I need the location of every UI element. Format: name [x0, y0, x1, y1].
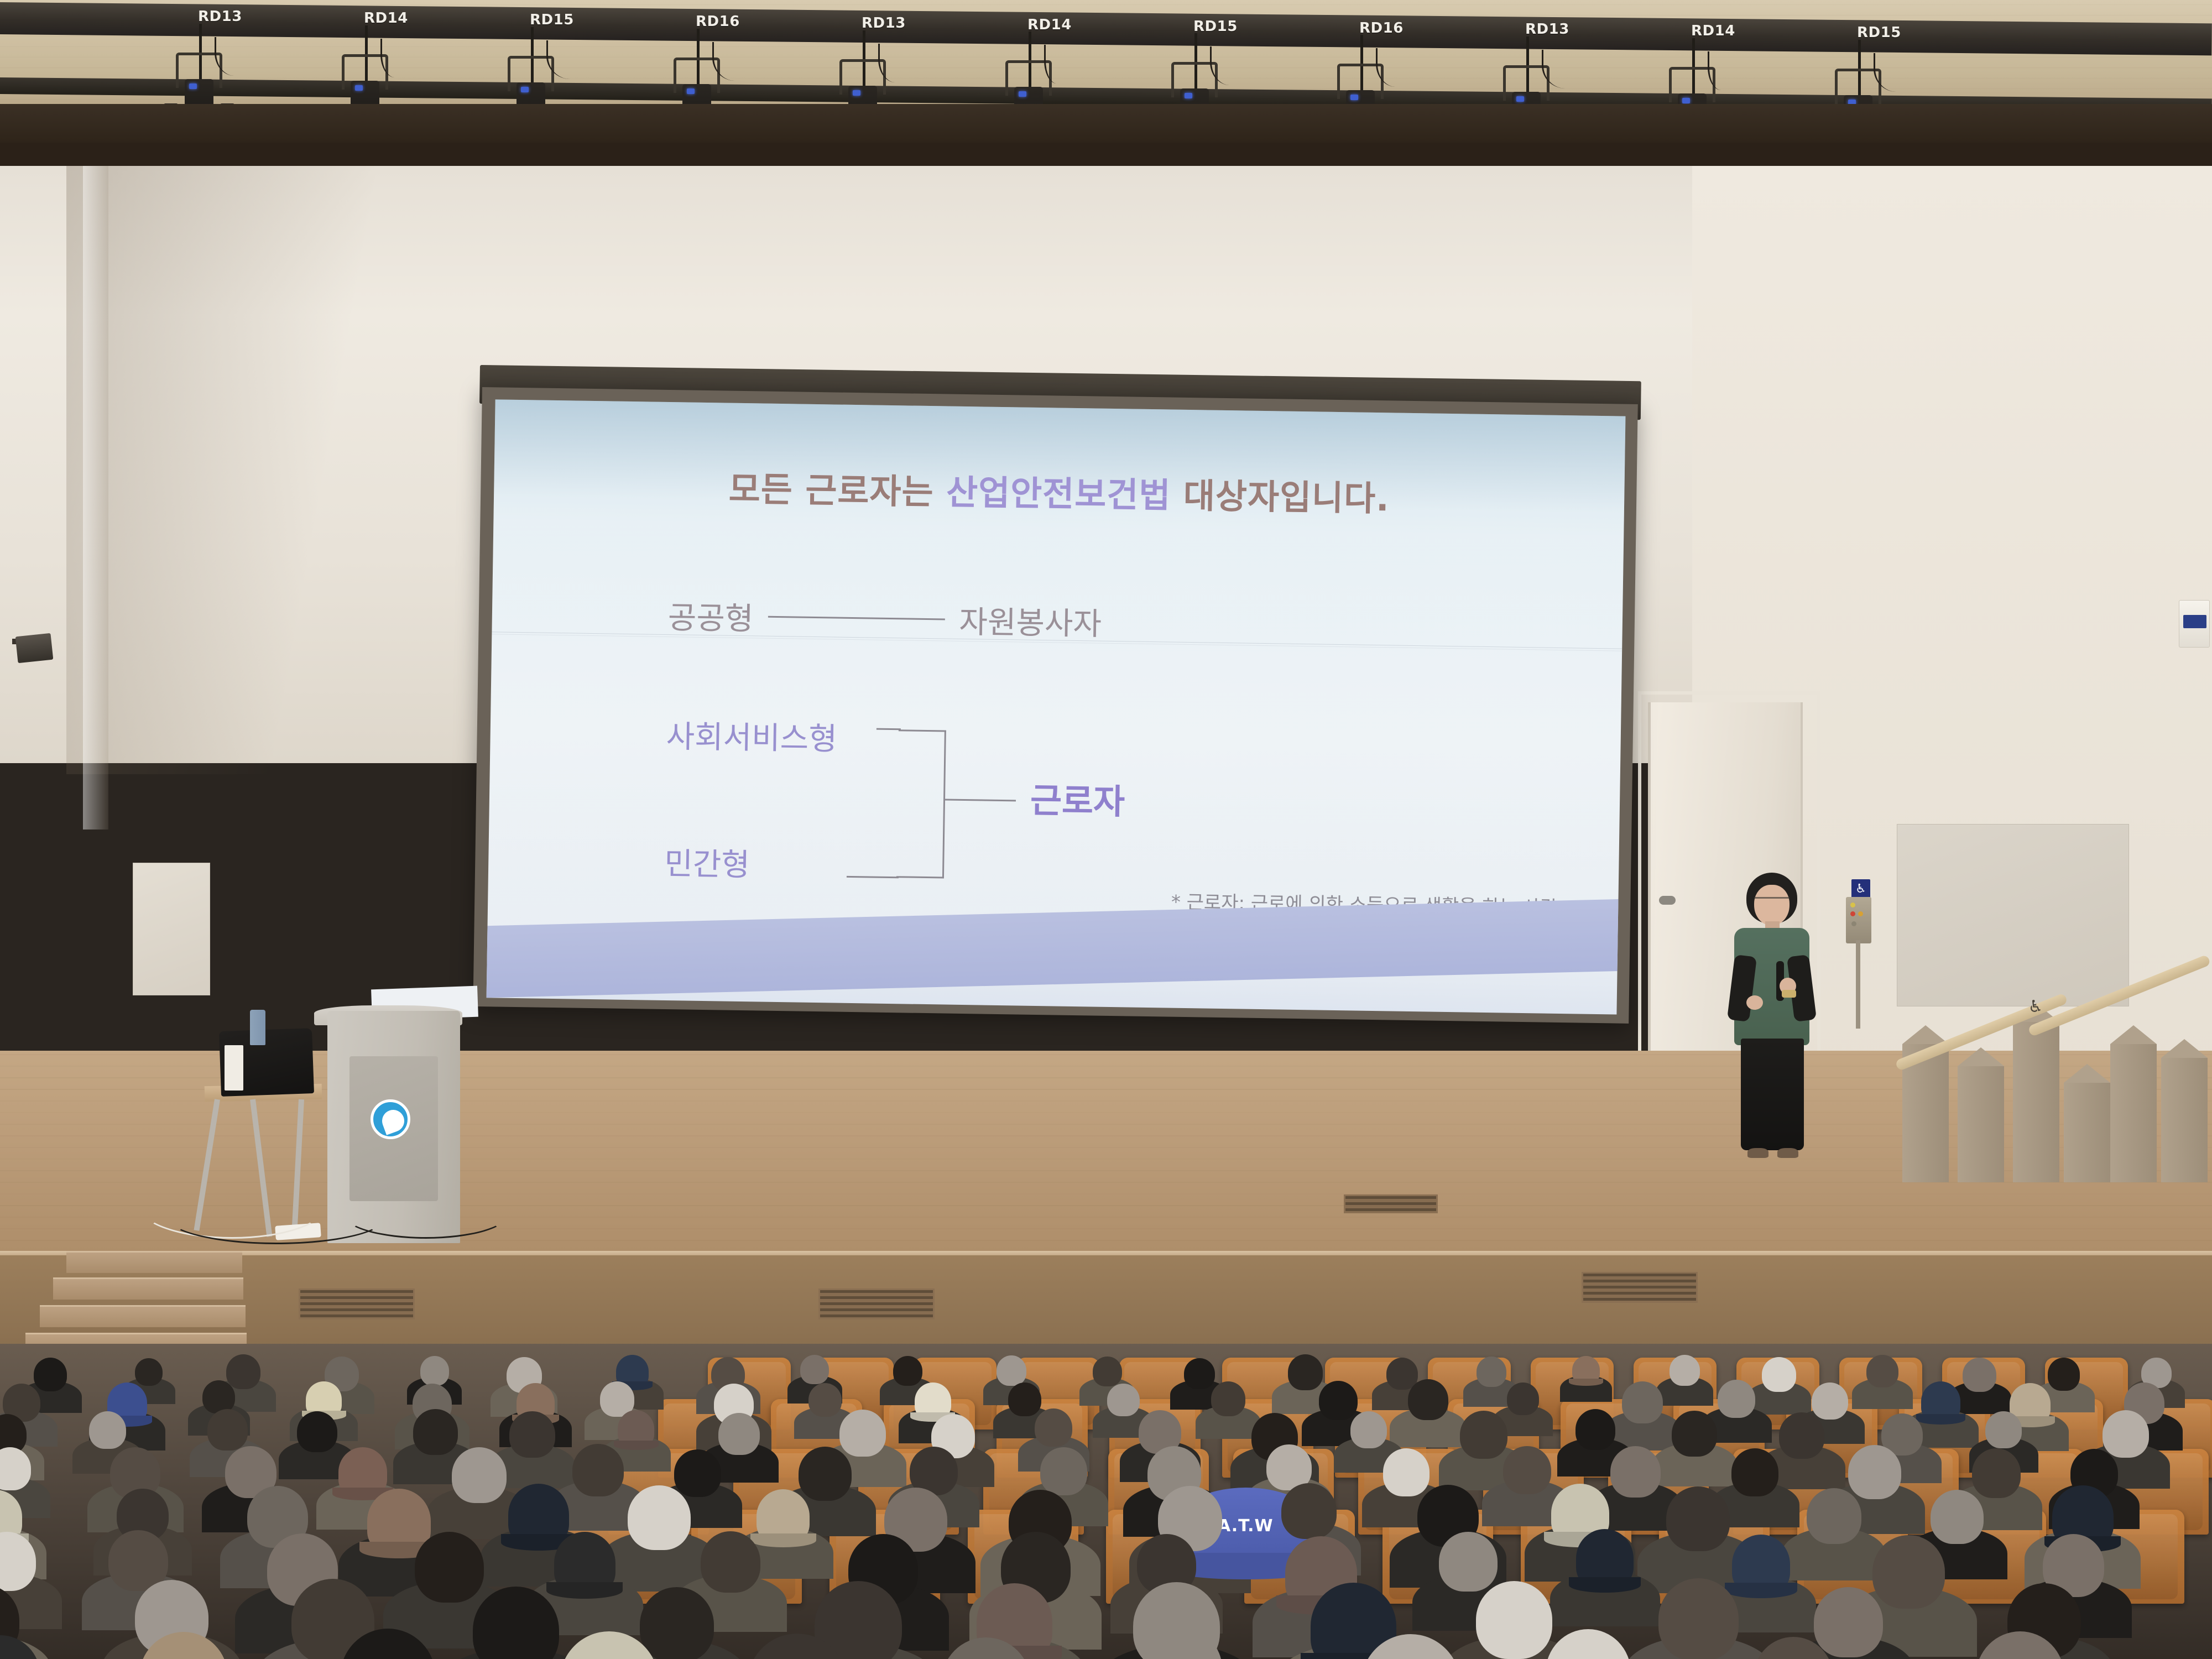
- stage-control-panel[interactable]: [1846, 897, 1871, 943]
- slide-label-worker: 근로자: [1030, 773, 1125, 824]
- door-handle-icon[interactable]: [1659, 896, 1676, 905]
- audience-member-cap: [1732, 1535, 1790, 1594]
- audience-member-head: [1779, 1412, 1825, 1459]
- audience-member-head: [207, 1409, 248, 1450]
- audience-member-head: [226, 1354, 260, 1389]
- audience-member-head: [1319, 1381, 1358, 1420]
- presenter-hand-left: [1746, 995, 1763, 1010]
- audience-member-head: [1670, 1355, 1699, 1386]
- audience-member-head: [2048, 1358, 2080, 1391]
- sanitizer-label: [2183, 615, 2206, 628]
- audience-member-head: [718, 1413, 760, 1455]
- audience-member-head: [1281, 1483, 1337, 1540]
- glasses-icon: [1754, 897, 1790, 904]
- slide-row-public: 공공형 자원봉사자: [667, 593, 1102, 644]
- truss-label-rd14-5: RD14: [1027, 17, 1072, 33]
- audience-member-head: [1872, 1535, 1944, 1609]
- audience-member-head: [1288, 1354, 1323, 1390]
- audience-member-cap: [508, 1484, 569, 1546]
- truss-label-rd14-1: RD14: [364, 10, 408, 27]
- cap-brim: [1916, 1414, 1965, 1425]
- stage-vent: [1582, 1272, 1698, 1303]
- stage-step-5[interactable]: [53, 1277, 243, 1300]
- accessible-sign-icon: ♿: [1851, 879, 1870, 899]
- fixture-led-indicator: [1185, 93, 1192, 98]
- cap-brim: [750, 1533, 816, 1547]
- audience-member-head: [1211, 1381, 1245, 1416]
- presenter-shoe-left: [1747, 1148, 1768, 1158]
- audience-member-head: [1731, 1448, 1778, 1496]
- audience-member-head: [415, 1532, 484, 1603]
- wristwatch-icon: [1782, 990, 1796, 998]
- cap-brim: [1569, 1379, 1603, 1386]
- fixture-led-indicator: [1350, 95, 1358, 100]
- audience-member-head: [1718, 1380, 1755, 1418]
- stage-step-6[interactable]: [66, 1251, 242, 1273]
- audience-member-head: [1658, 1578, 1739, 1659]
- slide-connector-line: [768, 616, 945, 620]
- cap-brim: [1569, 1577, 1641, 1593]
- audience-member-head: [808, 1383, 842, 1417]
- control-button-red[interactable]: [1850, 911, 1855, 916]
- lift-picket-4: [2110, 1044, 2157, 1182]
- wall-panel-left: [133, 863, 210, 995]
- audience-member-head: [1476, 1581, 1552, 1659]
- truss-label-rd16-3: RD16: [696, 13, 740, 30]
- fixture-led-indicator: [355, 85, 363, 91]
- presenter-face: [1754, 885, 1790, 926]
- audience-member-head: [509, 1411, 555, 1458]
- audience-member-head: [1439, 1532, 1498, 1592]
- audience-member-head: [1672, 1411, 1717, 1457]
- audience-member-head: [1666, 1486, 1730, 1551]
- slide-label-private-type: 민간형: [664, 839, 750, 885]
- stage-step-4[interactable]: [40, 1305, 246, 1327]
- lift-accessible-icon: ♿: [2021, 993, 2051, 1021]
- fixture-led-indicator: [1516, 96, 1524, 102]
- fixture-led-indicator: [853, 90, 860, 96]
- audience-member-head: [893, 1356, 922, 1386]
- control-panel-stem: [1856, 940, 1860, 1029]
- projection-screen-surface: 모든 근로자는 산업안전보건법 대상자입니다. 공공형 자원봉사자 사회서비스형…: [487, 399, 1626, 1014]
- cap-brim: [1725, 1583, 1797, 1598]
- audience-member-head: [1477, 1357, 1506, 1387]
- audience-member-head: [2103, 1410, 2149, 1458]
- truss-label-rd15-10: RD15: [1857, 24, 1901, 41]
- audience-member-head: [1408, 1379, 1448, 1420]
- slide-title-part2: 산업안전보건법: [946, 472, 1171, 515]
- audience-member-head: [701, 1531, 760, 1592]
- audience-member-head: [839, 1410, 885, 1457]
- slide-title-part3: 대상자입니다.: [1171, 476, 1390, 519]
- auditorium-scene: RD13RD14RD15RD16RD13RD14RD15RD16RD13RD14…: [0, 0, 2212, 1659]
- audience-member-cap: [1572, 1356, 1600, 1384]
- audience-member-head: [413, 1409, 458, 1454]
- audience-member-head: [1807, 1488, 1861, 1544]
- fixture-led-indicator: [687, 88, 695, 94]
- control-button-orange[interactable]: [1858, 911, 1863, 916]
- fixture-led-indicator: [1682, 98, 1690, 103]
- hand-sanitizer-dispenser[interactable]: [2179, 600, 2210, 648]
- slide-label-volunteer: 자원봉사자: [959, 597, 1102, 644]
- cap-brim: [546, 1582, 623, 1598]
- slide-label-public-type: 공공형: [667, 593, 754, 639]
- audience-member-head: [628, 1485, 691, 1550]
- slide-group-line-top: [877, 728, 901, 731]
- tissue-box: [225, 1045, 243, 1091]
- stage-vent: [299, 1288, 415, 1319]
- audience-member-head: [1972, 1448, 2021, 1498]
- audience-member-head: [1503, 1446, 1551, 1495]
- truss-label-rd13-0: RD13: [198, 8, 242, 25]
- wall-shadow: [66, 166, 376, 774]
- audience-member-head: [572, 1444, 624, 1496]
- audience-member-head: [1184, 1358, 1214, 1389]
- audience-member-head: [1985, 1411, 2022, 1448]
- audience-member-head: [1008, 1383, 1041, 1416]
- audience-member-head: [1814, 1587, 1882, 1657]
- stage-vent: [818, 1288, 935, 1319]
- wheelchair-lift[interactable]: ♿: [1902, 950, 2212, 1182]
- truss-label-rd14-9: RD14: [1691, 23, 1735, 39]
- audience-member-cap: [367, 1489, 431, 1554]
- slide-group-worker: 사회서비스형 민간형 근로자: [664, 712, 1330, 904]
- slide-label-social-service-type: 사회서비스형: [666, 712, 837, 759]
- slide-title: 모든 근로자는 산업안전보건법 대상자입니다.: [728, 461, 1390, 521]
- stage-floor-hatch: [1344, 1194, 1438, 1213]
- audience-member-head: [1386, 1358, 1418, 1390]
- audience-member-cap: [1576, 1529, 1634, 1588]
- fixture-led-indicator: [189, 84, 197, 89]
- lift-picket-5: [2161, 1058, 2208, 1182]
- slide-bottom-band: [487, 894, 1626, 998]
- slide-title-part1: 모든 근로자는: [728, 469, 946, 513]
- audience-member-head: [1460, 1411, 1507, 1459]
- audience-member-cap: [338, 1447, 387, 1497]
- truss-label-rd13-4: RD13: [862, 15, 906, 32]
- audience-member-head: [674, 1449, 721, 1497]
- control-button-gray[interactable]: [1851, 921, 1856, 926]
- audience-member-head: [1812, 1383, 1848, 1420]
- truss-label-rd16-7: RD16: [1359, 20, 1404, 36]
- audience-member-head: [1350, 1411, 1387, 1448]
- audience-member-head: [202, 1380, 235, 1413]
- audience-member-head: [420, 1356, 449, 1385]
- audience-member-head: [1383, 1448, 1430, 1496]
- projection-screen-frame: 모든 근로자는 산업안전보건법 대상자입니다. 공공형 자원봉사자 사회서비스형…: [473, 387, 1637, 1024]
- audience-member-head: [640, 1587, 714, 1659]
- fixture-led-indicator: [521, 87, 529, 92]
- audience-member-head: [297, 1411, 337, 1453]
- audience-member-head: [997, 1355, 1026, 1386]
- audience-member-cap: [1921, 1381, 1961, 1422]
- audience-member-head: [1848, 1445, 1901, 1499]
- wall-speaker: [15, 633, 54, 663]
- audience-member-head: [800, 1355, 829, 1384]
- cap-text: A.T.W: [1218, 1516, 1274, 1536]
- slide-group-bracket: [896, 729, 946, 878]
- truss-label-rd13-8: RD13: [1525, 21, 1569, 38]
- slide-group-bracket-stub: [945, 799, 1016, 801]
- audience-member-head: [89, 1411, 126, 1449]
- audience-member-head: [1963, 1358, 1996, 1392]
- truss-label-rd15-6: RD15: [1193, 18, 1238, 35]
- audience-member-head: [1610, 1446, 1661, 1498]
- lift-picket-1: [1958, 1066, 2004, 1182]
- audience-member-head: [1040, 1447, 1087, 1495]
- audience-member-head: [1762, 1357, 1796, 1392]
- audience-member-head: [1866, 1355, 1898, 1387]
- audience-member-head: [1575, 1409, 1616, 1450]
- audience-member-head: [1507, 1383, 1539, 1415]
- audience-member-head: [1931, 1490, 1984, 1544]
- presenter-shoe-right: [1777, 1148, 1798, 1158]
- podium-logo-icon: [371, 1099, 410, 1139]
- audience-member-head: [1035, 1408, 1072, 1447]
- audience-member-cap: [554, 1532, 615, 1594]
- slide-group-line-bottom: [847, 876, 899, 878]
- audience-member-head: [34, 1358, 67, 1391]
- fixture-led-indicator: [1019, 91, 1026, 97]
- cap-brim: [614, 1441, 659, 1450]
- audience-member-head: [1622, 1381, 1663, 1423]
- audience-member-cap: [915, 1383, 951, 1420]
- floor-cable-black: [343, 1189, 509, 1239]
- presenter-skirt: [1741, 1039, 1804, 1150]
- audience-member-head: [1093, 1357, 1122, 1386]
- audience-member-cap: [618, 1410, 654, 1447]
- audience-member-head: [135, 1358, 163, 1386]
- lift-picket-2: [2013, 1022, 2059, 1182]
- water-bottle: [250, 1010, 265, 1045]
- presenter: [1724, 873, 1818, 1166]
- audience-member-head: [1107, 1384, 1139, 1416]
- audience-member-head: [452, 1447, 507, 1503]
- audience-member-cap: [757, 1489, 810, 1543]
- audience-member-head: [799, 1447, 852, 1501]
- control-button-yellow[interactable]: [1850, 902, 1855, 907]
- truss-label-rd15-2: RD15: [530, 12, 574, 28]
- lift-picket-3: [2064, 1083, 2110, 1182]
- wall-pilaster-left: [83, 166, 108, 830]
